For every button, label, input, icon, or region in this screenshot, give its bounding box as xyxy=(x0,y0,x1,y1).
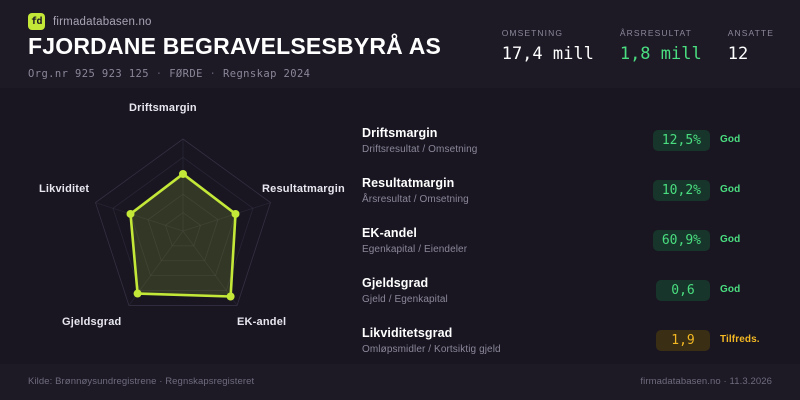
radar-label-resultatmargin: Resultatmargin xyxy=(262,183,345,195)
metric-name: Resultatmargin xyxy=(362,176,454,190)
radar-data-area xyxy=(131,174,236,297)
meta-separator-1: · xyxy=(156,68,163,80)
site-name: firmadatabasen.no xyxy=(53,16,152,28)
company-city: FØRDE xyxy=(169,68,203,80)
radar-label-ek-andel: EK-andel xyxy=(237,316,286,328)
org-number: Org.nr 925 923 125 xyxy=(28,68,149,80)
metric-formula: Driftsresultat / Omsetning xyxy=(362,144,477,155)
metric-rating: Tilfreds. xyxy=(720,334,782,345)
kpi-arsresultat: ÅRSRESULTAT 1,8 mill xyxy=(620,28,702,64)
kpi-ansatte-value: 12 xyxy=(728,44,774,64)
radar-data-point xyxy=(134,290,142,298)
metric-name: EK-andel xyxy=(362,226,417,240)
radar-label-likviditet: Likviditet xyxy=(39,183,89,195)
metric-row[interactable]: Driftsmargin Driftsresultat / Omsetning … xyxy=(362,126,782,166)
kpi-ansatte: ANSATTE 12 xyxy=(728,28,774,64)
metric-rating: God xyxy=(720,234,782,245)
metrics-list: Driftsmargin Driftsresultat / Omsetning … xyxy=(362,126,782,376)
radar-data-point xyxy=(179,170,187,178)
brand[interactable]: fd firmadatabasen.no xyxy=(28,13,152,30)
footer-attribution: firmadatabasen.no · 11.3.2026 xyxy=(640,376,772,387)
kpi-omsetning-value: 17,4 mill xyxy=(502,44,594,64)
page-header: fd firmadatabasen.no FJORDANE BEGRAVELSE… xyxy=(0,0,800,88)
page-footer: Kilde: Brønnøysundregistrene · Regnskaps… xyxy=(0,364,800,400)
metric-name: Likviditetsgrad xyxy=(362,326,452,340)
metric-row[interactable]: Gjeldsgrad Gjeld / Egenkapital 0,6 God xyxy=(362,276,782,316)
kpi-omsetning: OMSETNING 17,4 mill xyxy=(502,28,594,64)
metric-name: Driftsmargin xyxy=(362,126,438,140)
kpi-group: OMSETNING 17,4 mill ÅRSRESULTAT 1,8 mill… xyxy=(502,28,774,64)
metric-formula: Egenkapital / Eiendeler xyxy=(362,244,467,255)
meta-separator-2: · xyxy=(210,68,217,80)
radar-data-point xyxy=(232,210,240,218)
radar-label-gjeldsgrad: Gjeldsgrad xyxy=(62,316,121,328)
metric-row[interactable]: Likviditetsgrad Omløpsmidler / Kortsikti… xyxy=(362,326,782,366)
fiscal-year: Regnskap 2024 xyxy=(223,68,310,80)
metric-formula: Gjeld / Egenkapital xyxy=(362,294,448,305)
metric-name: Gjeldsgrad xyxy=(362,276,428,290)
metric-formula: Årsresultat / Omsetning xyxy=(362,194,469,205)
metric-rating: God xyxy=(720,284,782,295)
radar-chart-svg xyxy=(0,88,355,356)
metric-value-badge: 12,5% xyxy=(653,130,710,151)
metric-row[interactable]: EK-andel Egenkapital / Eiendeler 60,9% G… xyxy=(362,226,782,266)
metric-formula: Omløpsmidler / Kortsiktig gjeld xyxy=(362,344,501,355)
metric-value-badge: 10,2% xyxy=(653,180,710,201)
radar-data-point xyxy=(127,210,135,218)
metric-value-badge: 1,9 xyxy=(656,330,710,351)
kpi-arsresultat-value: 1,8 mill xyxy=(620,44,702,64)
metric-value-badge: 60,9% xyxy=(653,230,710,251)
metric-row[interactable]: Resultatmargin Årsresultat / Omsetning 1… xyxy=(362,176,782,216)
kpi-ansatte-label: ANSATTE xyxy=(728,28,774,38)
metric-rating: God xyxy=(720,184,782,195)
company-meta: Org.nr 925 923 125 · FØRDE · Regnskap 20… xyxy=(28,68,310,80)
footer-source: Kilde: Brønnøysundregistrene · Regnskaps… xyxy=(28,376,254,387)
kpi-omsetning-label: OMSETNING xyxy=(502,28,594,38)
metric-rating: God xyxy=(720,134,782,145)
kpi-arsresultat-label: ÅRSRESULTAT xyxy=(620,28,702,38)
page-title: FJORDANE BEGRAVELSESBYRÅ AS xyxy=(28,33,441,60)
radar-label-driftsmargin: Driftsmargin xyxy=(129,102,197,114)
metric-value-badge: 0,6 xyxy=(656,280,710,301)
radar-data-point xyxy=(227,293,235,301)
radar-chart: Driftsmargin Resultatmargin EK-andel Gje… xyxy=(0,88,355,356)
fd-logo-icon: fd xyxy=(28,13,45,30)
